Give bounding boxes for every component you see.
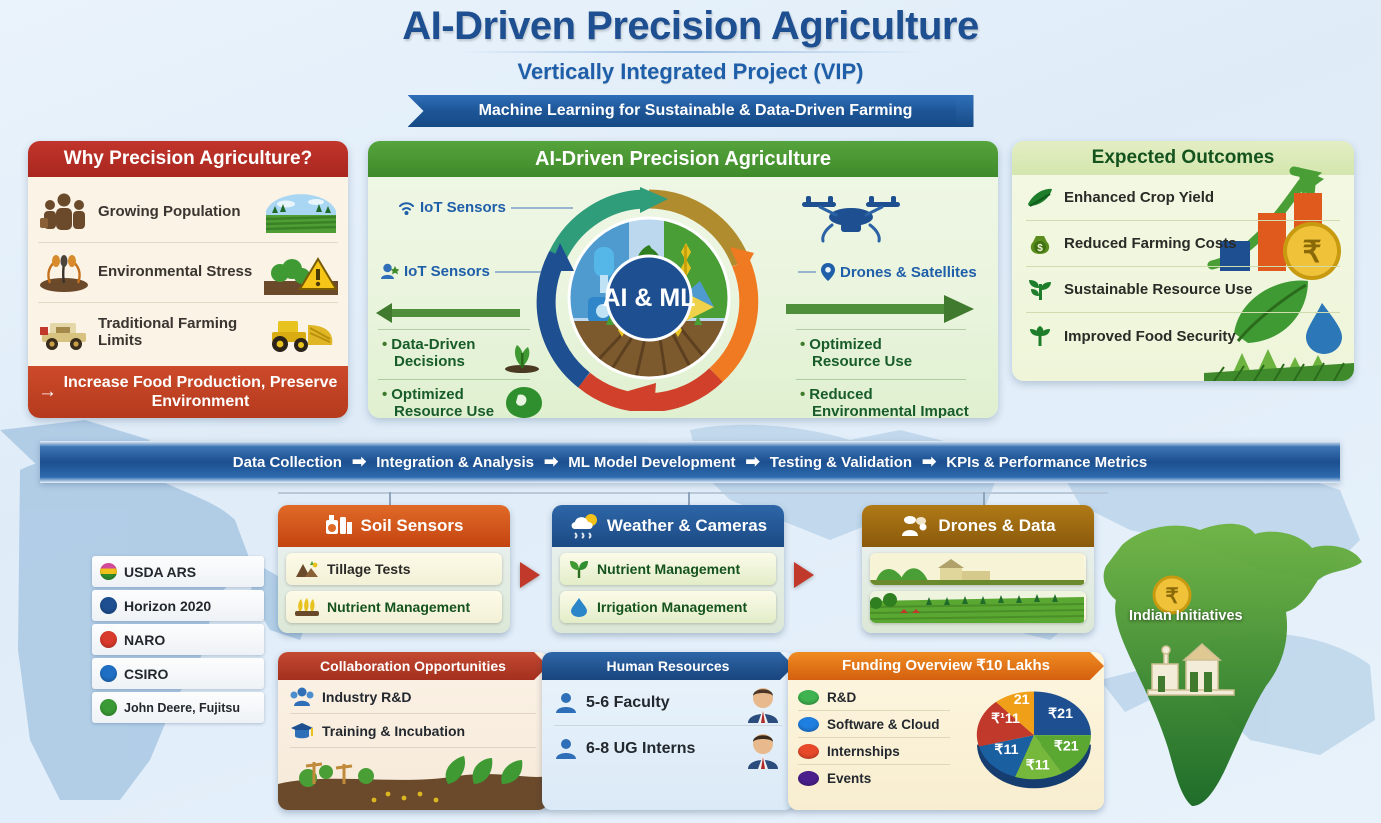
org-item-usda-ars[interactable]: USDA ARS	[92, 556, 264, 587]
outcome-row-sustainable-resource-use: Sustainable Resource Use	[1026, 267, 1340, 313]
process-arrow-icon: ➡	[922, 452, 936, 472]
outcome-label-sustainable-resource-use: Sustainable Resource Use	[1064, 281, 1252, 298]
process-arrow-icon: ➡	[544, 452, 558, 472]
process-step-ml-model-development: ML Model Development	[568, 454, 735, 471]
why-row-environmental-stress: Environmental Stress	[38, 243, 338, 303]
leaf-icon	[569, 559, 589, 579]
bullet-reduced-environmental-impact: •Reduced Environmental Impact	[800, 387, 969, 418]
person-icon	[554, 737, 578, 761]
outbound-arrow-icon	[786, 293, 976, 325]
flow-arrow-2-icon	[794, 562, 814, 588]
intern-avatar	[744, 729, 782, 769]
center-cycle-panel: AI-Driven Precision Agriculture IoT Sens…	[368, 141, 998, 418]
process-step-integration-analysis: Integration & Analysis	[376, 454, 534, 471]
inbound-arrow-icon	[374, 301, 524, 325]
outcome-label-enhanced-crop-yield: Enhanced Crop Yield	[1064, 189, 1214, 206]
header: AI-Driven Precision Agriculture Vertical…	[0, 4, 1381, 127]
connector-drop	[688, 492, 690, 506]
wheat-icon	[295, 598, 319, 616]
drone-icon	[900, 514, 930, 538]
pie-label-3: ₹11	[1026, 757, 1050, 773]
funding-title: Funding Overview ₹10 Lakhs	[842, 657, 1050, 674]
drones-satellites-text: Drones & Satellites	[840, 264, 977, 281]
warning-crop-art	[264, 251, 338, 295]
org-label-csiro: CSIRO	[124, 666, 168, 682]
why-panel-heading: Why Precision Agriculture?	[28, 141, 348, 177]
collaboration-row-training-incubation[interactable]: Training & Incubation	[290, 714, 536, 748]
bullet-data-driven-decisions: •Data-Driven Decisions	[382, 337, 475, 371]
org-label-usda-ars: USDA ARS	[124, 564, 196, 580]
card-soil-sensors[interactable]: Soil Sensors Tillage Tests Nutrient Mana…	[278, 505, 510, 633]
money-bag-icon: $	[1026, 232, 1054, 256]
card-drones-data-header: Drones & Data	[862, 505, 1094, 547]
svg-text:₹: ₹	[1165, 585, 1178, 608]
collaboration-header: Collaboration Opportunities	[278, 652, 548, 680]
wifi-icon	[398, 200, 415, 216]
legend-swatch-events	[798, 771, 819, 786]
card-drones-data-title: Drones & Data	[938, 516, 1055, 536]
csiro-logo-icon	[100, 665, 117, 682]
collaboration-title: Collaboration Opportunities	[320, 658, 506, 674]
collaboration-label-industry-rd: Industry R&D	[322, 689, 411, 705]
card-soil-sensors-header: Soil Sensors	[278, 505, 510, 547]
weather-cloud-icon	[569, 513, 599, 539]
expected-outcomes-panel: Expected Outcomes ₹ Enhanced Crop	[1012, 141, 1354, 381]
legend-label-software-cloud: Software & Cloud	[827, 717, 940, 732]
funding-legend: R&D Software & Cloud Internships Events	[798, 684, 950, 792]
arrow-right-icon: →	[38, 381, 57, 404]
process-step-testing-validation: Testing & Validation	[770, 454, 912, 471]
legend-row-internships: Internships	[798, 738, 950, 765]
connector-line	[798, 271, 816, 273]
family-icon	[38, 193, 90, 233]
divider	[796, 379, 966, 380]
card-drones-data[interactable]: Drones & Data	[862, 505, 1094, 633]
people-network-icon	[290, 686, 314, 708]
legend-label-internships: Internships	[827, 744, 900, 759]
infographic-root: AI-Driven Precision Agriculture Vertical…	[0, 0, 1381, 823]
hr-row-faculty[interactable]: 5-6 Faculty	[554, 680, 782, 726]
why-label-growing-population: Growing Population	[98, 204, 256, 221]
process-flow-bar: Data Collection ➡ Integration & Analysis…	[40, 441, 1340, 483]
legend-row-events: Events	[798, 765, 950, 792]
outcomes-rows: Enhanced Crop Yield $ Reduced Farming Co…	[1012, 175, 1354, 359]
org-item-naro[interactable]: NARO	[92, 624, 264, 655]
left-bullets-2: •Optimized Resource Use	[382, 387, 494, 418]
legend-swatch-rd	[798, 690, 819, 705]
card-funding-overview[interactable]: Funding Overview ₹10 Lakhs R&D Software …	[788, 652, 1104, 810]
chip-orchard-rows[interactable]	[870, 591, 1086, 623]
why-row-growing-population: Growing Population	[38, 183, 338, 243]
why-panel-body: Growing Population	[28, 177, 348, 363]
svg-text:$: $	[1037, 243, 1043, 254]
process-arrow-icon: ➡	[352, 452, 366, 472]
card-human-resources[interactable]: Human Resources 5-6 Faculty 6-8 UG Inter…	[542, 652, 794, 810]
right-bullets: •Optimized Resource Use	[800, 337, 912, 380]
process-arrow-icon: ➡	[746, 452, 760, 472]
tractor-art	[264, 311, 338, 355]
tagline-ribbon: Machine Learning for Sustainable & Data-…	[408, 95, 974, 127]
person-icon	[554, 691, 578, 715]
outcome-row-improved-food-security: Improved Food Security	[1026, 313, 1340, 359]
water-drop-icon	[569, 597, 589, 617]
center-panel-heading: AI-Driven Precision Agriculture	[368, 141, 998, 177]
center-panel-body: IoT Sensors IoT Sensors Drones & Sat	[368, 177, 998, 418]
why-label-environmental-stress: Environmental Stress	[98, 264, 256, 281]
legend-swatch-internships	[798, 744, 819, 759]
tillage-icon	[295, 560, 319, 578]
bullet-dot: •	[800, 336, 805, 353]
human-resources-header: Human Resources	[542, 652, 794, 680]
process-step-kpis-performance-metrics: KPIs & Performance Metrics	[946, 454, 1147, 471]
farm-landscape-art	[870, 553, 1084, 585]
john-deere-fujitsu-logo-icon	[100, 699, 117, 716]
why-panel-footer: → Increase Food Production, Preserve Env…	[28, 366, 348, 418]
why-label-traditional-farming-limits: Traditional Farming Limits	[98, 316, 256, 350]
chip-farm-landscape[interactable]	[870, 553, 1086, 585]
collaboration-row-industry-rd[interactable]: Industry R&D	[290, 680, 536, 714]
drone-art	[796, 185, 906, 243]
collaboration-label-training-incubation: Training & Incubation	[322, 723, 465, 739]
funding-pie-chart: ₹21 ₹21 ₹11 ₹11 ₹¹11 21	[972, 682, 1096, 794]
org-item-horizon-2020[interactable]: Horizon 2020	[92, 590, 264, 621]
harvester-icon	[38, 313, 90, 353]
org-item-john-deere-fujitsu[interactable]: John Deere, Fujitsu	[92, 692, 264, 723]
user-sensor-icon	[380, 263, 399, 280]
title-divider	[456, 51, 926, 53]
hr-row-interns[interactable]: 6-8 UG Interns	[554, 726, 782, 772]
leaf-icon	[1026, 186, 1054, 210]
sprout-icon	[1026, 278, 1054, 302]
label-iot-sensors-mid: IoT Sensors	[380, 263, 557, 280]
legend-label-events: Events	[827, 771, 871, 786]
legend-label-rd: R&D	[827, 690, 856, 705]
divider	[378, 329, 530, 330]
card-weather-cameras-title: Weather & Cameras	[607, 516, 767, 536]
chip-label-irrigation-management: Irrigation Management	[597, 599, 747, 615]
hr-label-interns: 6-8 UG Interns	[586, 740, 695, 758]
legend-row-rd: R&D	[798, 684, 950, 711]
page-title: AI-Driven Precision Agriculture	[0, 4, 1381, 49]
faculty-avatar	[744, 683, 782, 723]
why-row-traditional-farming-limits: Traditional Farming Limits	[38, 303, 338, 363]
legend-row-software-cloud: Software & Cloud	[798, 711, 950, 738]
tagline-text: Machine Learning for Sustainable & Data-…	[408, 95, 974, 127]
ai-ml-core-label: AI & ML	[602, 284, 695, 312]
chip-tillage-tests[interactable]: Tillage Tests	[286, 553, 502, 585]
chip-irrigation-management[interactable]: Irrigation Management	[560, 591, 776, 623]
divider	[378, 379, 530, 380]
pie-label-4: ₹11	[994, 742, 1018, 758]
right-bullets-2: •Reduced Environmental Impact	[800, 387, 969, 418]
pie-label-5: ₹¹11	[991, 711, 1020, 727]
chip-nutrient-management-soil[interactable]: Nutrient Management	[286, 591, 502, 623]
pie-label-1: ₹21	[1048, 706, 1073, 722]
naro-logo-icon	[100, 631, 117, 648]
seedling-icon	[501, 337, 543, 373]
card-soil-sensors-title: Soil Sensors	[361, 516, 464, 536]
page-subtitle: Vertically Integrated Project (VIP)	[0, 59, 1381, 85]
pie-label-2: ₹21	[1054, 738, 1079, 754]
outcome-label-improved-food-security: Improved Food Security	[1064, 328, 1236, 345]
org-item-csiro[interactable]: CSIRO	[92, 658, 264, 689]
compost-garden-art	[278, 750, 548, 810]
org-label-horizon-2020: Horizon 2020	[124, 598, 211, 614]
label-drones-satellites: Drones & Satellites	[798, 263, 977, 281]
iot-sensors-top-text: IoT Sensors	[420, 199, 506, 216]
eco-globe-icon	[504, 385, 544, 418]
connector-drop	[983, 492, 985, 506]
card-weather-cameras-body: Nutrient Management Irrigation Managemen…	[552, 547, 784, 629]
chip-label-nutrient-management-weather: Nutrient Management	[597, 561, 740, 577]
orchard-rows-art	[870, 591, 1084, 623]
card-weather-cameras-header: Weather & Cameras	[552, 505, 784, 547]
bullet-optimized-resource-use-right: •Optimized Resource Use	[800, 337, 912, 371]
process-step-data-collection: Data Collection	[233, 454, 342, 471]
org-label-john-deere-fujitsu: John Deere, Fujitsu	[124, 701, 240, 715]
chip-label-tillage-tests: Tillage Tests	[327, 561, 411, 577]
divider	[796, 329, 966, 330]
why-footer-text: Increase Food Production, Preserve Envir…	[63, 373, 338, 411]
pie-label-6: 21	[1014, 692, 1030, 708]
outcome-row-enhanced-crop-yield: Enhanced Crop Yield	[1026, 175, 1340, 221]
wilting-crop-icon	[38, 253, 90, 293]
left-bullets: •Data-Driven Decisions	[382, 337, 475, 380]
soil-sensor-icon	[325, 514, 353, 538]
bullet-dot: •	[382, 386, 387, 403]
chip-nutrient-management-weather[interactable]: Nutrient Management	[560, 553, 776, 585]
monument-icon	[1146, 636, 1246, 696]
organizations-list: USDA ARS Horizon 2020 NARO CSIRO John De…	[92, 556, 264, 726]
card-soil-sensors-body: Tillage Tests Nutrient Management	[278, 547, 510, 629]
india-initiatives-label: Indian Initiatives	[1129, 608, 1243, 624]
plant-icon	[1026, 324, 1054, 348]
bullet-dot: •	[382, 336, 387, 353]
org-label-naro: NARO	[124, 632, 165, 648]
card-drones-data-body	[862, 547, 1094, 629]
horizon-2020-logo-icon	[100, 597, 117, 614]
farm-field-art	[264, 191, 338, 235]
legend-swatch-software-cloud	[798, 717, 819, 732]
funding-header: Funding Overview ₹10 Lakhs	[788, 652, 1104, 680]
human-resources-title: Human Resources	[607, 658, 730, 674]
iot-sensors-mid-text: IoT Sensors	[404, 263, 490, 280]
map-pin-icon	[821, 263, 835, 281]
card-weather-cameras[interactable]: Weather & Cameras Nutrient Management Ir…	[552, 505, 784, 633]
outcome-row-reduced-farming-costs: $ Reduced Farming Costs	[1026, 221, 1340, 267]
usda-ars-logo-icon	[100, 563, 117, 580]
graduation-cap-icon	[290, 720, 314, 742]
why-precision-agriculture-panel: Why Precision Agriculture? Growing Popul…	[28, 141, 348, 418]
ai-ml-cycle-diagram: AI & ML	[536, 185, 762, 411]
outcome-label-reduced-farming-costs: Reduced Farming Costs	[1064, 235, 1237, 252]
bullet-optimized-resource-use-left: •Optimized Resource Use	[382, 387, 494, 418]
hr-label-faculty: 5-6 Faculty	[586, 694, 670, 712]
card-collaboration-opportunities[interactable]: Collaboration Opportunities Industry R&D…	[278, 652, 548, 810]
connector-drop	[389, 492, 391, 506]
flow-arrow-1-icon	[520, 562, 540, 588]
chip-label-nutrient-management-soil: Nutrient Management	[327, 599, 470, 615]
bullet-dot: •	[800, 386, 805, 403]
